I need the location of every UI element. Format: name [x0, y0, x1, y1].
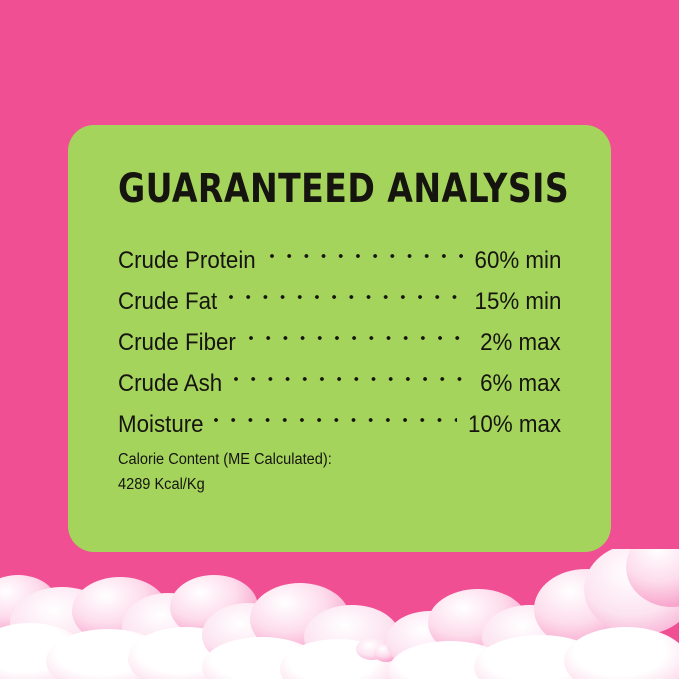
table-row: Crude Ash 6% max [118, 350, 561, 391]
leader-dots [249, 309, 471, 350]
analysis-rows: Crude Protein 60% min Crude Fat 15% min … [118, 227, 561, 432]
leader-dots [214, 391, 457, 432]
calorie-content-note: Calorie Content (ME Calculated): 4289 Kc… [118, 447, 345, 497]
cloud-left [0, 575, 258, 679]
cloud-right [386, 549, 679, 679]
label-image: GUARANTEED ANALYSIS Crude Protein 60% mi… [0, 0, 679, 679]
cloud-center [202, 583, 400, 679]
nutrient-value: 10% max [468, 404, 561, 445]
table-row: Crude Fat 15% min [118, 268, 561, 309]
guaranteed-analysis-card: GUARANTEED ANALYSIS Crude Protein 60% mi… [68, 125, 611, 552]
cloud-puff-small [356, 638, 398, 662]
table-row: Crude Protein 60% min [118, 227, 561, 268]
page-title: GUARANTEED ANALYSIS [118, 169, 569, 209]
leader-dots [229, 268, 464, 309]
calorie-content-value: 4289 Kcal/Kg [118, 472, 332, 497]
table-row: Crude Fiber 2% max [118, 309, 561, 350]
pink-clouds-decoration [0, 549, 679, 679]
leader-dots [270, 227, 464, 268]
table-row: Moisture 10% max [118, 391, 561, 432]
leader-dots [234, 350, 470, 391]
calorie-content-label: Calorie Content (ME Calculated): [118, 447, 332, 472]
nutrient-label: Moisture [118, 404, 204, 445]
